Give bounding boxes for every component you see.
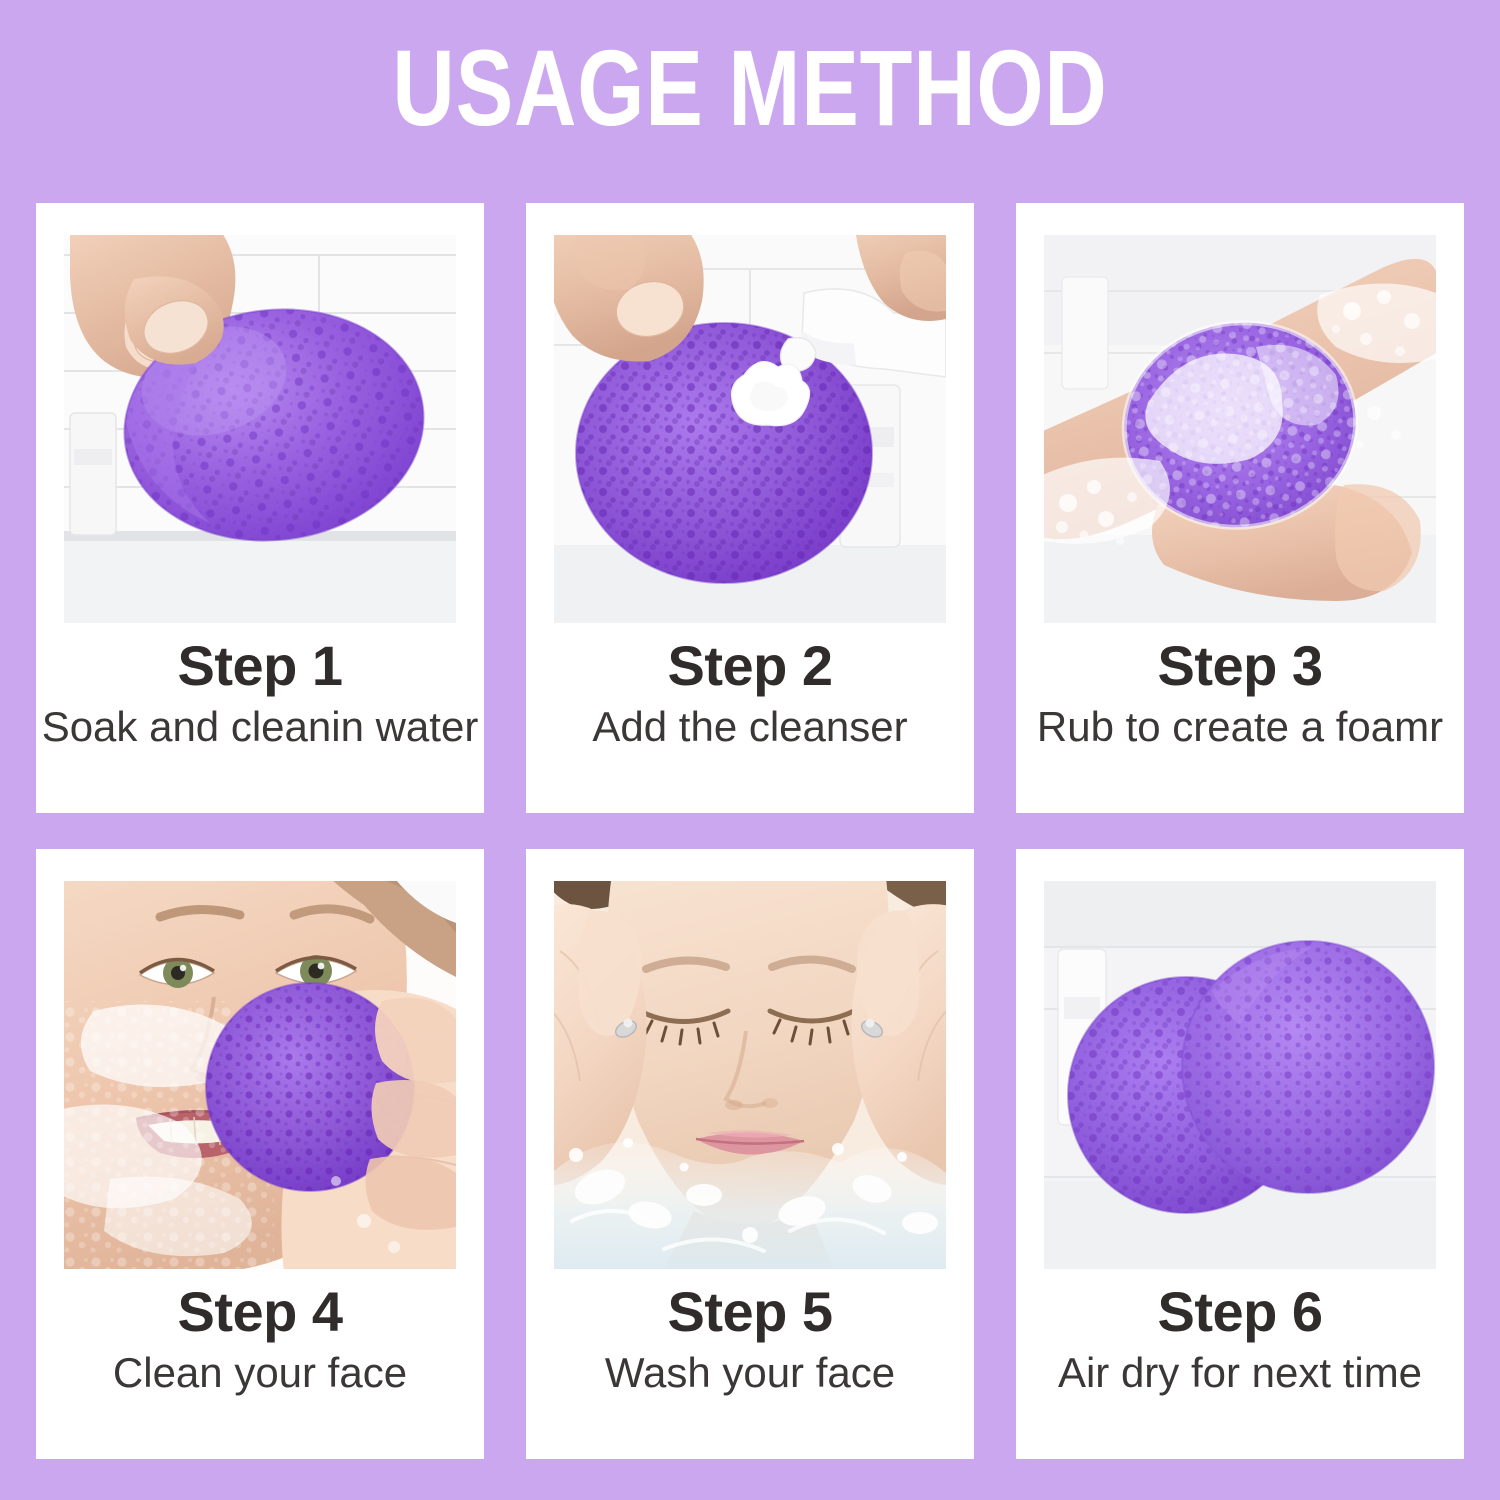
step-card-5[interactable]: Step 5 Wash your face: [526, 849, 974, 1459]
step-4-photo: [64, 881, 456, 1269]
step-3-description: Rub to create a foamr: [1004, 702, 1476, 752]
step-card-1[interactable]: Step 1 Soak and cleanin water: [36, 203, 484, 813]
step-3-caption: Step 3 Rub to create a foamr: [1004, 635, 1476, 752]
step-5-caption: Step 5 Wash your face: [514, 1281, 986, 1398]
step-2-description: Add the cleanser: [514, 702, 986, 752]
step-card-4[interactable]: Step 4 Clean your face: [36, 849, 484, 1459]
step-5-description: Wash your face: [514, 1348, 986, 1398]
step-6-caption: Step 6 Air dry for next time: [1004, 1281, 1476, 1398]
step-4-heading: Step 4: [24, 1281, 496, 1344]
step-3-heading: Step 3: [1004, 635, 1476, 698]
step-1-photo: [64, 235, 456, 623]
step-6-photo: [1044, 881, 1436, 1269]
step-6-description: Air dry for next time: [1004, 1348, 1476, 1398]
step-1-description: Soak and cleanin water: [24, 702, 496, 752]
page-title: USAGE METHOD: [150, 34, 1350, 142]
step-card-2[interactable]: Step 2 Add the cleanser: [526, 203, 974, 813]
step-1-heading: Step 1: [24, 635, 496, 698]
step-6-heading: Step 6: [1004, 1281, 1476, 1344]
step-card-6[interactable]: Step 6 Air dry for next time: [1016, 849, 1464, 1459]
steps-grid: Step 1 Soak and cleanin water: [36, 203, 1464, 1459]
step-5-heading: Step 5: [514, 1281, 986, 1344]
step-4-caption: Step 4 Clean your face: [24, 1281, 496, 1398]
step-2-heading: Step 2: [514, 635, 986, 698]
step-4-description: Clean your face: [24, 1348, 496, 1398]
step-3-photo: [1044, 235, 1436, 623]
step-2-caption: Step 2 Add the cleanser: [514, 635, 986, 752]
step-5-photo: [554, 881, 946, 1269]
step-card-3[interactable]: Step 3 Rub to create a foamr: [1016, 203, 1464, 813]
step-2-photo: [554, 235, 946, 623]
step-1-caption: Step 1 Soak and cleanin water: [24, 635, 496, 752]
